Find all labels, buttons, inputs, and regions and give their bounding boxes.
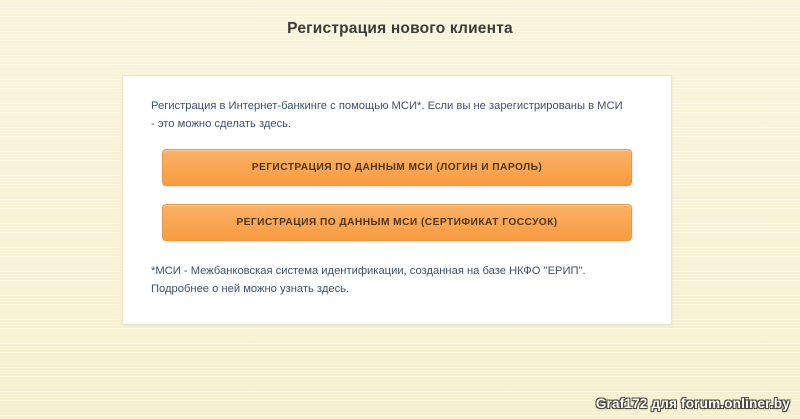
watermark: Graf172 для forum.onliner.by [596,396,790,411]
footnote-paragraph: *МСИ - Межбанковская система идентификац… [151,262,643,298]
footnote-line-1: *МСИ - Межбанковская система идентификац… [151,262,643,280]
registration-card: Регистрация в Интернет-банкинге с помощь… [122,75,672,325]
footnote-line-2: Подробнее о ней можно узнать здесь. [151,280,643,298]
intro-line-2: - это можно сделать здесь. [151,115,643,133]
intro-line-1: Регистрация в Интернет-банкинге с помощь… [151,97,643,115]
register-msi-login-password-button[interactable]: РЕГИСТРАЦИЯ ПО ДАННЫМ МСИ (ЛОГИН И ПАРОЛ… [162,149,632,186]
register-msi-gossuok-certificate-button[interactable]: РЕГИСТРАЦИЯ ПО ДАННЫМ МСИ (СЕРТИФИКАТ ГО… [162,204,632,241]
intro-paragraph: Регистрация в Интернет-банкинге с помощь… [151,97,643,133]
button-group: РЕГИСТРАЦИЯ ПО ДАННЫМ МСИ (ЛОГИН И ПАРОЛ… [151,149,643,241]
page-title: Регистрация нового клиента [0,20,800,38]
card-content: Регистрация в Интернет-банкинге с помощь… [123,76,671,298]
